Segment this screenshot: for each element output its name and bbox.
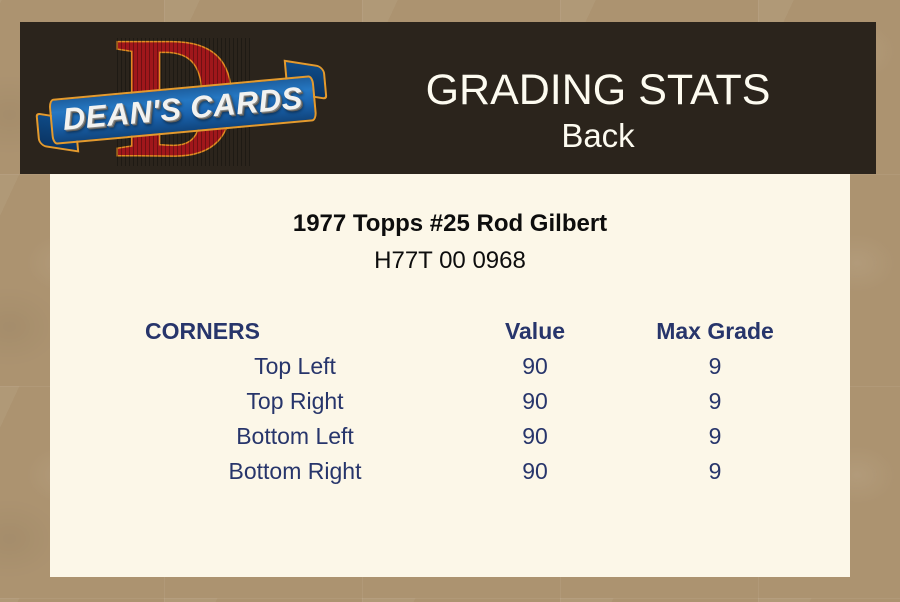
table-row: Bottom Left 90 9 bbox=[145, 419, 805, 454]
row-max-grade: 9 bbox=[625, 454, 805, 489]
card-serial-number: H77T 00 0968 bbox=[50, 247, 850, 275]
column-header-max-grade: Max Grade bbox=[625, 314, 805, 349]
grading-stats-table: CORNERS Value Max Grade Top Left 90 9 To… bbox=[145, 314, 805, 489]
row-value: 90 bbox=[445, 384, 625, 419]
table-row: Bottom Right 90 9 bbox=[145, 454, 805, 489]
row-label: Top Right bbox=[145, 384, 445, 419]
column-header-corners: CORNERS bbox=[145, 314, 445, 349]
content-panel: 1977 Topps #25 Rod Gilbert H77T 00 0968 … bbox=[50, 174, 850, 577]
page-title: GRADING STATS bbox=[320, 66, 876, 114]
table-row: Top Left 90 9 bbox=[145, 349, 805, 384]
row-max-grade: 9 bbox=[625, 419, 805, 454]
column-header-value: Value bbox=[445, 314, 625, 349]
stats-table-head: CORNERS Value Max Grade bbox=[145, 314, 805, 349]
table-row: Top Right 90 9 bbox=[145, 384, 805, 419]
stats-table-body: Top Left 90 9 Top Right 90 9 Bottom Left… bbox=[145, 349, 805, 489]
row-label: Bottom Left bbox=[145, 419, 445, 454]
page-subtitle: Back bbox=[320, 117, 876, 155]
row-label: Bottom Right bbox=[145, 454, 445, 489]
row-value: 90 bbox=[445, 419, 625, 454]
row-label: Top Left bbox=[145, 349, 445, 384]
card-title: 1977 Topps #25 Rod Gilbert bbox=[50, 210, 850, 238]
row-value: 90 bbox=[445, 349, 625, 384]
row-max-grade: 9 bbox=[625, 384, 805, 419]
row-value: 90 bbox=[445, 454, 625, 489]
stats-header-row: CORNERS Value Max Grade bbox=[145, 314, 805, 349]
row-max-grade: 9 bbox=[625, 349, 805, 384]
header-bar: D DEAN'S CARDS GRADING STATS Back bbox=[20, 22, 876, 174]
deans-cards-logo[interactable]: D DEAN'S CARDS bbox=[42, 28, 322, 173]
page-root: D DEAN'S CARDS GRADING STATS Back 1977 T… bbox=[0, 0, 900, 602]
